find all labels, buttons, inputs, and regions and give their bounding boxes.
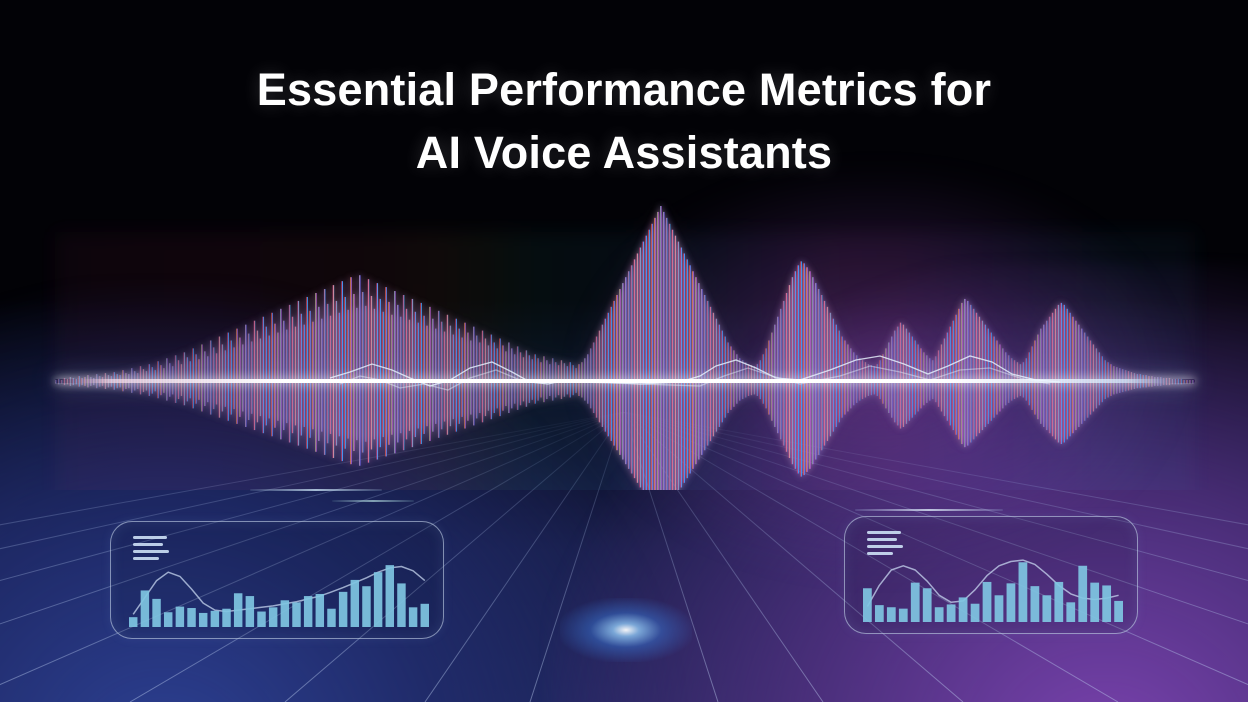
audio-waveform xyxy=(0,150,1248,490)
title-line-1: Essential Performance Metrics for xyxy=(257,64,991,115)
deco-rule-left-lower xyxy=(332,500,414,502)
bar-chart-left xyxy=(129,553,429,627)
chart-card-left[interactable] xyxy=(110,521,444,639)
chart-card-right[interactable] xyxy=(844,516,1138,634)
deco-rule-right xyxy=(855,509,1003,511)
title-line-2: AI Voice Assistants xyxy=(0,121,1248,184)
bar-chart-right xyxy=(863,548,1123,622)
page-title: Essential Performance Metrics for AI Voi… xyxy=(0,58,1248,184)
waveform-baseline xyxy=(55,379,1195,383)
deco-rule-left-upper xyxy=(250,489,382,491)
poster-canvas: Essential Performance Metrics for AI Voi… xyxy=(0,0,1248,702)
